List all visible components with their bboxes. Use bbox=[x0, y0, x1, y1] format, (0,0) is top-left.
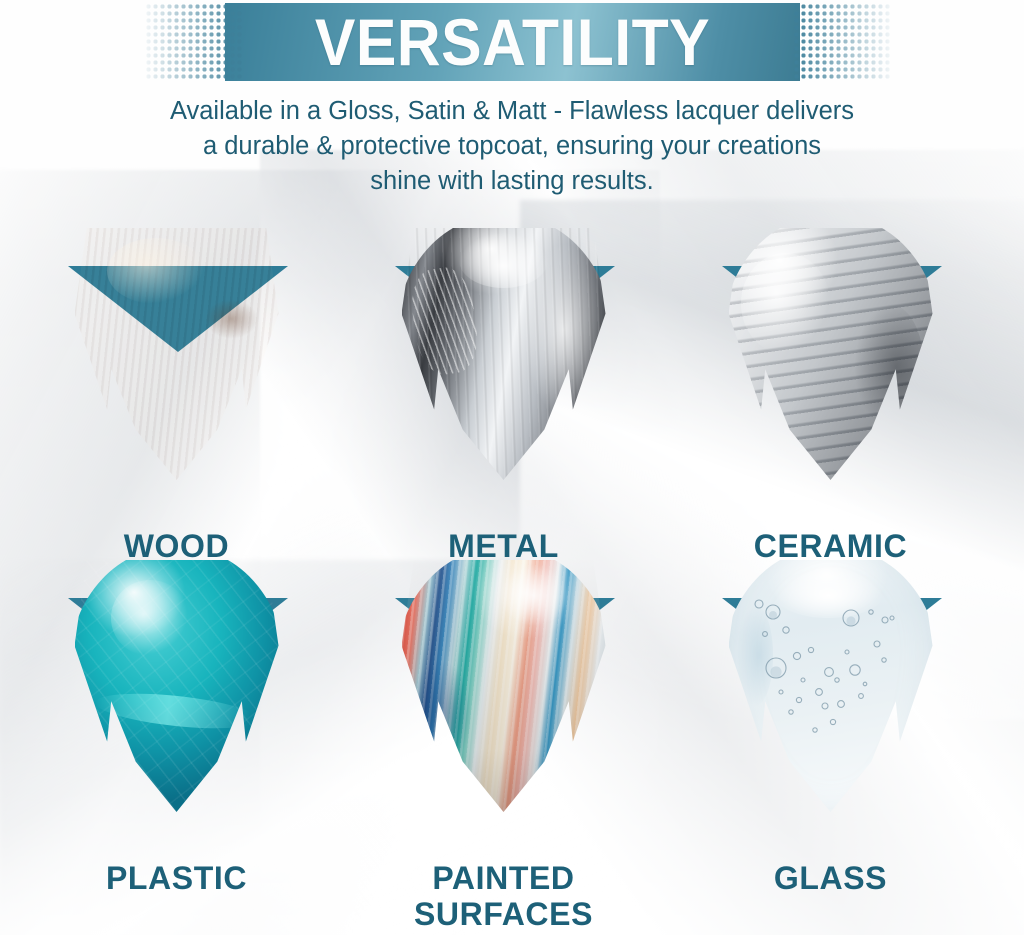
material-label-painted-line2: SURFACES bbox=[333, 896, 674, 932]
material-label-ceramic-line1: CERAMIC bbox=[660, 528, 1001, 564]
material-label-painted-line1: PAINTED bbox=[333, 860, 674, 896]
material-card-wood: WOOD bbox=[6, 228, 347, 564]
material-label-plastic-line1: PLASTIC bbox=[6, 860, 347, 896]
glass-orb bbox=[729, 560, 933, 812]
metal-cone-shape-icon bbox=[402, 228, 606, 480]
material-label-ceramic: CERAMIC bbox=[660, 528, 1001, 564]
material-label-plastic: PLASTIC bbox=[6, 860, 347, 896]
ceramic-cone-shape-icon bbox=[729, 228, 933, 480]
material-art-metal bbox=[333, 228, 674, 528]
wood-cone-shape-icon bbox=[75, 228, 279, 480]
material-label-painted-surfaces: PAINTED SURFACES bbox=[333, 860, 674, 932]
material-label-metal-line1: METAL bbox=[333, 528, 674, 564]
materials-grid: WOOD METAL bbox=[0, 0, 1024, 935]
metal-orb bbox=[402, 228, 606, 480]
ceramic-orb bbox=[729, 228, 933, 480]
material-label-wood-line1: WOOD bbox=[6, 528, 347, 564]
material-card-ceramic: CERAMIC bbox=[660, 228, 1001, 564]
wood-orb bbox=[75, 228, 279, 480]
material-art-glass bbox=[660, 560, 1001, 860]
material-card-plastic: PLASTIC bbox=[6, 560, 347, 896]
versatility-infographic: VERSATILITY Available in a Gloss, Satin … bbox=[0, 0, 1024, 935]
material-card-glass: GLASS bbox=[660, 560, 1001, 896]
material-label-glass-line1: GLASS bbox=[660, 860, 1001, 896]
material-card-painted-surfaces: PAINTED SURFACES bbox=[333, 560, 674, 932]
material-art-ceramic bbox=[660, 228, 1001, 528]
material-card-metal: METAL bbox=[333, 228, 674, 564]
material-art-plastic bbox=[6, 560, 347, 860]
glass-cone-shape-icon bbox=[729, 560, 933, 812]
plastic-orb bbox=[75, 560, 279, 812]
material-label-metal: METAL bbox=[333, 528, 674, 564]
plastic-cone-shape-icon bbox=[75, 560, 279, 812]
material-label-glass: GLASS bbox=[660, 860, 1001, 896]
painted-cone-shape-icon bbox=[402, 560, 606, 812]
material-art-wood bbox=[6, 228, 347, 528]
material-label-wood: WOOD bbox=[6, 528, 347, 564]
material-art-painted-surfaces bbox=[333, 560, 674, 860]
painted-orb bbox=[402, 560, 606, 812]
